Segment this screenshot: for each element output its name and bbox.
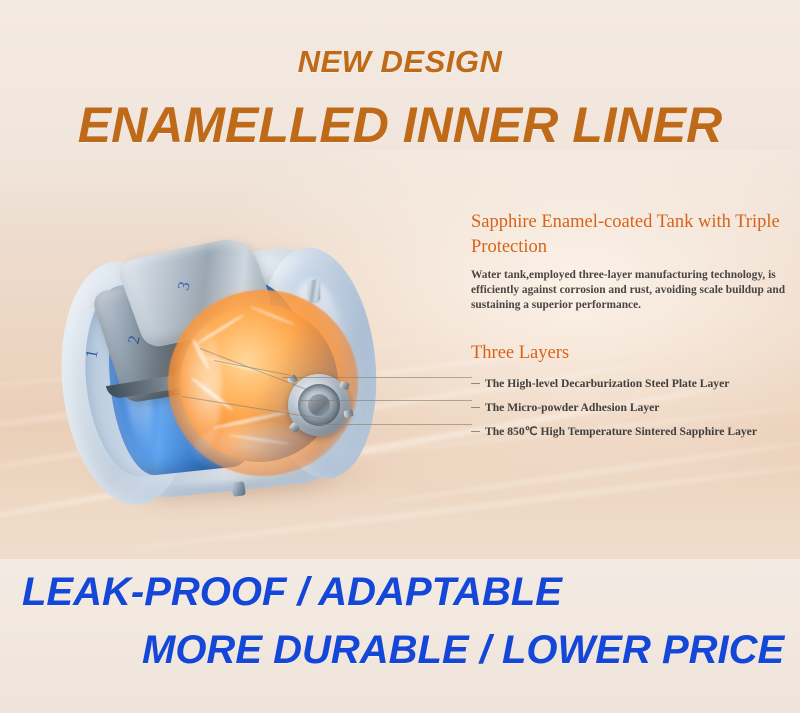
drain-valve-nub: [231, 481, 246, 497]
list-item: The Micro-powder Adhesion Layer: [471, 395, 796, 419]
three-layers-heading: Three Layers: [471, 342, 796, 364]
leader-line-layer-1: [282, 377, 472, 378]
leader-line-layer-3: [318, 424, 472, 425]
layer-label: The High-level Decarburization Steel Pla…: [485, 377, 729, 390]
leader-line-layer-2: [300, 400, 472, 401]
page-title: ENAMELLED INNER LINER: [0, 96, 800, 154]
promo-poster: NEW DESIGN ENAMELLED INNER LINER: [0, 0, 800, 713]
feature-body: Water tank,employed three-layer manufact…: [471, 268, 793, 312]
dash-icon: [471, 383, 480, 384]
slogan-line-2: MORE DURABLE / LOWER PRICE: [142, 628, 784, 673]
slogan-line-1: LEAK-PROOF / ADAPTABLE: [22, 570, 562, 615]
eyebrow-text: NEW DESIGN: [0, 44, 800, 80]
dash-icon: [471, 407, 480, 408]
flange-center: [308, 394, 330, 416]
mounting-tab-icon: [308, 279, 320, 303]
layer-label: The 850℃ High Temperature Sintered Sapph…: [485, 424, 757, 438]
feature-block: Sapphire Enamel-coated Tank with Triple …: [471, 210, 793, 313]
feature-heading: Sapphire Enamel-coated Tank with Triple …: [471, 210, 793, 259]
list-item: The High-level Decarburization Steel Pla…: [471, 371, 796, 395]
cutaway-water-tank-illustration: 3 2 1: [52, 232, 402, 532]
list-item: The 850℃ High Temperature Sintered Sapph…: [471, 419, 796, 443]
three-layers-block: Three Layers The High-level Decarburizat…: [471, 342, 796, 443]
layer-label: The Micro-powder Adhesion Layer: [485, 401, 659, 414]
dash-icon: [471, 431, 480, 432]
